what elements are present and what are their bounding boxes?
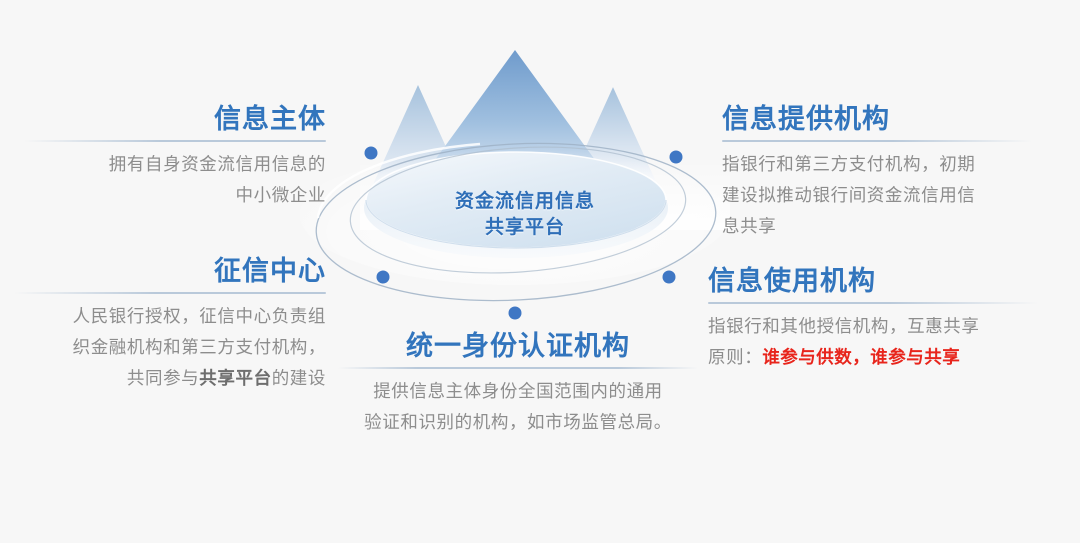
body-line: 提供信息主体身份全国范围内的通用 [338,376,698,407]
body-information-subject: 拥有自身资金流信用信息的 中小微企业 [24,149,326,211]
platform-title-line2: 共享平台 [396,215,654,241]
body-identity-authentication: 提供信息主体身份全国范围内的通用 验证和识别的机构，如市场监管总局。 [338,376,698,438]
mountain-right-icon [569,87,657,184]
heading-credit-center: 征信中心 [14,256,326,287]
body-line: 原则：谁参与供数，谁参与共享 [708,342,1038,373]
body-line: 共同参与共享平台的建设 [14,363,326,394]
block-information-provider: 信息提供机构 指银行和第三方支付机构，初期 建设拟推动银行间资金流信用信 息共享 [722,104,1032,242]
body-line-prefix: 原则： [708,347,762,367]
heading-rule [722,140,1032,142]
heading-identity-authentication: 统一身份认证机构 [338,331,698,362]
heading-rule [708,302,1038,304]
heading-information-user: 信息使用机构 [708,266,1038,297]
diagram-canvas: 资金流信用信息 共享平台 信息主体 拥有自身资金流信用信息的 中小微企业 征信中… [0,0,1080,543]
body-line-highlight: 谁参与供数，谁参与共享 [762,347,960,367]
node-bottom-right [663,271,676,284]
body-line: 指银行和第三方支付机构，初期 [722,149,1032,180]
body-information-user: 指银行和其他授信机构，互惠共享 原则：谁参与供数，谁参与共享 [708,311,1038,373]
node-bottom [509,307,522,320]
node-bottom-left [377,271,390,284]
body-credit-center: 人民银行授权，征信中心负责组 织金融机构和第三方支付机构， 共同参与共享平台的建… [14,301,326,394]
body-line-prefix: 共同参与 [127,368,199,388]
platform-title: 资金流信用信息 共享平台 [396,189,654,240]
mountain-center-icon [400,50,630,208]
mountain-left-icon [366,85,470,200]
body-information-provider: 指银行和第三方支付机构，初期 建设拟推动银行间资金流信用信 息共享 [722,149,1032,242]
heading-information-provider: 信息提供机构 [722,104,1032,135]
platform-title-line1: 资金流信用信息 [396,189,654,215]
node-top-right [670,151,683,164]
block-identity-authentication: 统一身份认证机构 提供信息主体身份全国范围内的通用 验证和识别的机构，如市场监管… [338,331,698,438]
heading-rule [24,140,326,142]
block-credit-center: 征信中心 人民银行授权，征信中心负责组 织金融机构和第三方支付机构， 共同参与共… [14,256,326,394]
body-line: 中小微企业 [24,180,326,211]
body-line: 拥有自身资金流信用信息的 [24,149,326,180]
body-line: 指银行和其他授信机构，互惠共享 [708,311,1038,342]
body-line: 息共享 [722,211,1032,242]
body-line-emphasis: 共享平台 [199,368,271,388]
block-information-subject: 信息主体 拥有自身资金流信用信息的 中小微企业 [24,104,326,211]
body-line: 验证和识别的机构，如市场监管总局。 [338,407,698,438]
node-top-left [365,147,378,160]
body-line: 织金融机构和第三方支付机构， [14,332,326,363]
heading-information-subject: 信息主体 [24,104,326,135]
heading-rule [14,292,326,294]
body-line: 建设拟推动银行间资金流信用信 [722,180,1032,211]
heading-rule [338,367,698,369]
block-information-user: 信息使用机构 指银行和其他授信机构，互惠共享 原则：谁参与供数，谁参与共享 [708,266,1038,373]
body-line: 人民银行授权，征信中心负责组 [14,301,326,332]
body-line-suffix: 的建设 [272,368,326,388]
